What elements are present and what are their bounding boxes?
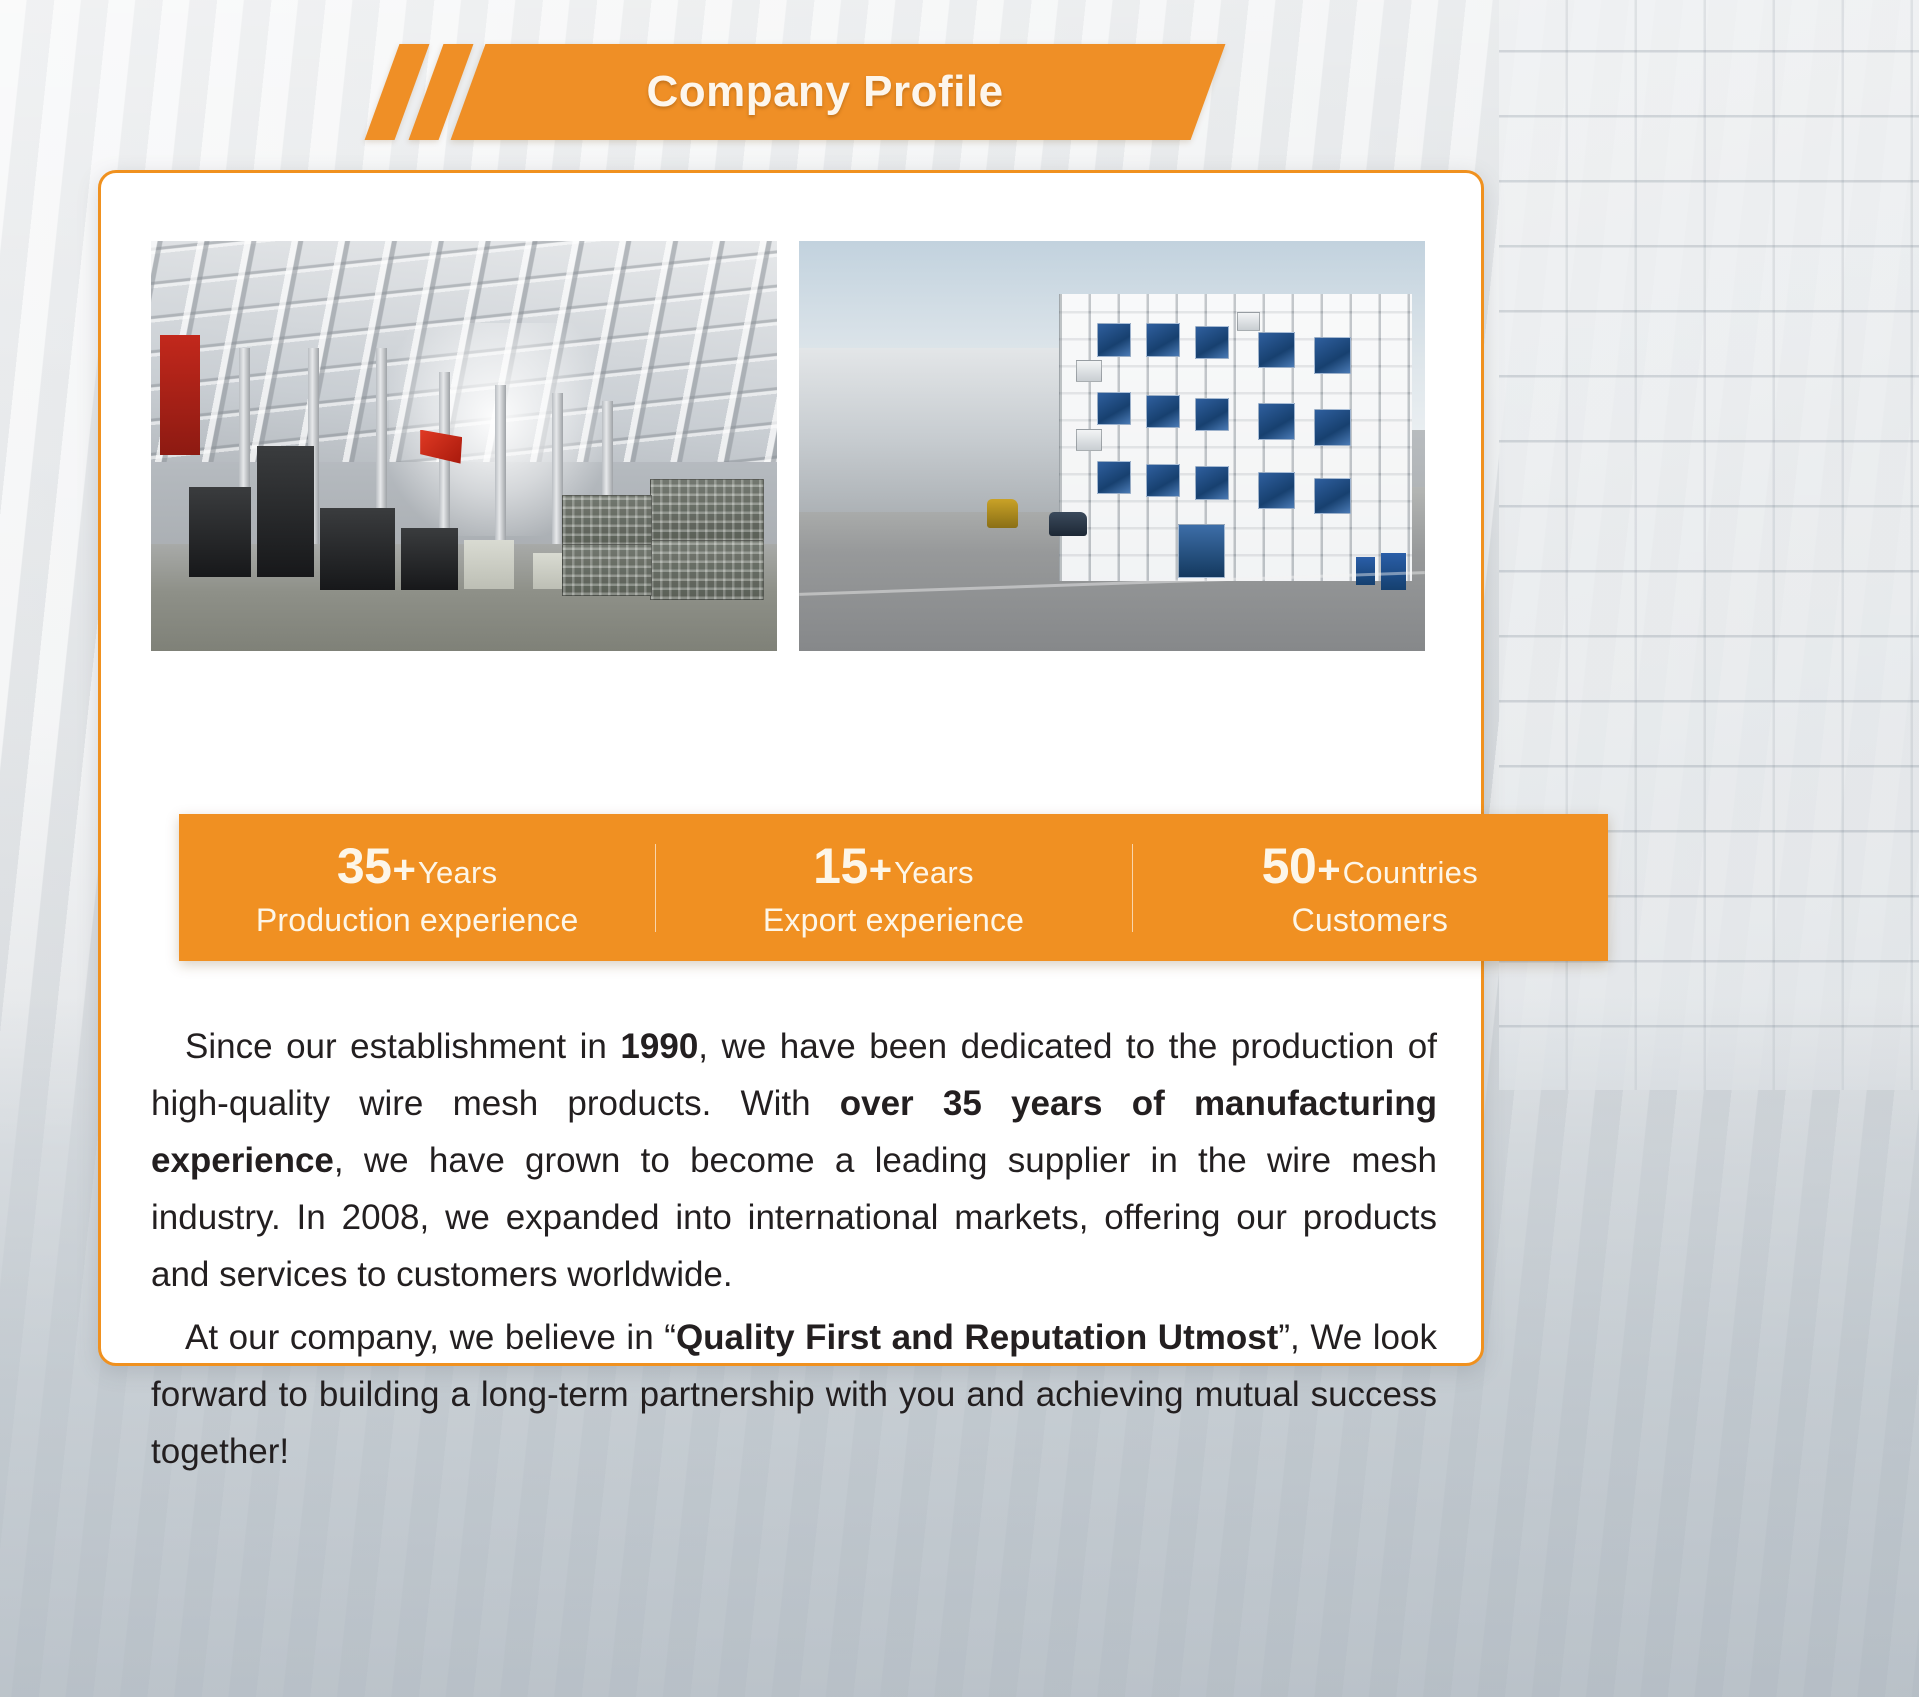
stat-countries-customers: 50 + Countries Customers [1132,833,1608,943]
p2-text-1: At our company, we believe in “ [185,1318,676,1357]
office-window [1097,323,1131,357]
stat-unit: Countries [1343,855,1478,891]
photo-row [151,241,1425,651]
page-title: Company Profile [468,44,1208,140]
mesh-panel-stack [562,544,652,595]
office-building-photo [799,241,1425,651]
office-entrance-door [1178,524,1226,578]
mesh-panel-stack [562,495,652,546]
factory-dark-stack [257,446,313,577]
office-window [1195,398,1229,432]
air-conditioner-unit [1237,312,1260,331]
stat-headline: 50 + Countries [1132,837,1608,895]
office-window [1314,409,1351,445]
company-profile-card: 35 + Years Production experience 15 + Ye… [98,170,1484,1366]
p2-bold-motto: Quality First and Reputation Utmost [676,1318,1278,1357]
stat-headline: 35 + Years [179,837,655,895]
description-paragraph-1: Since our establishment in 1990, we have… [151,1018,1437,1303]
stat-plus-sign: + [869,848,892,893]
stat-label: Production experience [179,902,655,939]
stat-number: 35 [337,837,392,895]
description-paragraph-2: At our company, we believe in “Quality F… [151,1309,1437,1480]
office-window [1258,472,1295,508]
blue-container [1356,557,1375,586]
factory-red-banner [160,335,200,455]
factory-dark-stack [189,487,252,577]
parked-truck [987,499,1018,528]
factory-interior-photo [151,241,777,651]
p1-text-1: Since our establishment in [185,1027,620,1066]
office-window [1146,395,1180,429]
office-window [1146,464,1180,498]
air-conditioner-unit [1076,429,1103,451]
company-description: Since our establishment in 1990, we have… [151,1018,1437,1480]
office-window [1097,461,1131,495]
stats-bar: 35 + Years Production experience 15 + Ye… [179,814,1608,961]
office-window [1097,392,1131,426]
office-window [1314,337,1351,373]
office-window [1146,323,1180,357]
office-window [1258,332,1295,368]
p1-text-3: , we have grown to become a leading supp… [151,1141,1437,1294]
stat-plus-sign: + [1317,848,1340,893]
stat-headline: 15 + Years [655,837,1131,895]
stat-label: Export experience [655,902,1131,939]
stat-number: 15 [813,837,868,895]
stat-label: Customers [1132,902,1608,939]
factory-dark-stack [401,528,457,590]
office-window [1314,478,1351,514]
mesh-panel-stack [650,479,765,543]
header-banner: Company Profile [368,44,1208,140]
stat-export-experience: 15 + Years Export experience [655,833,1131,943]
warehouse-block [799,348,1099,512]
stat-production-experience: 35 + Years Production experience [179,833,655,943]
stat-plus-sign: + [392,848,415,893]
mesh-panel-stack [650,540,765,599]
office-building-block [1059,294,1413,581]
factory-dark-stack [320,508,395,590]
parked-car [1049,512,1087,537]
air-conditioner-unit [1076,360,1103,382]
stat-number: 50 [1262,837,1317,895]
p1-bold-year: 1990 [620,1027,698,1066]
stat-unit: Years [418,855,498,891]
office-window [1195,466,1229,500]
factory-pale-box [464,540,514,589]
office-window [1258,403,1295,439]
office-window [1195,326,1229,360]
stat-unit: Years [894,855,974,891]
